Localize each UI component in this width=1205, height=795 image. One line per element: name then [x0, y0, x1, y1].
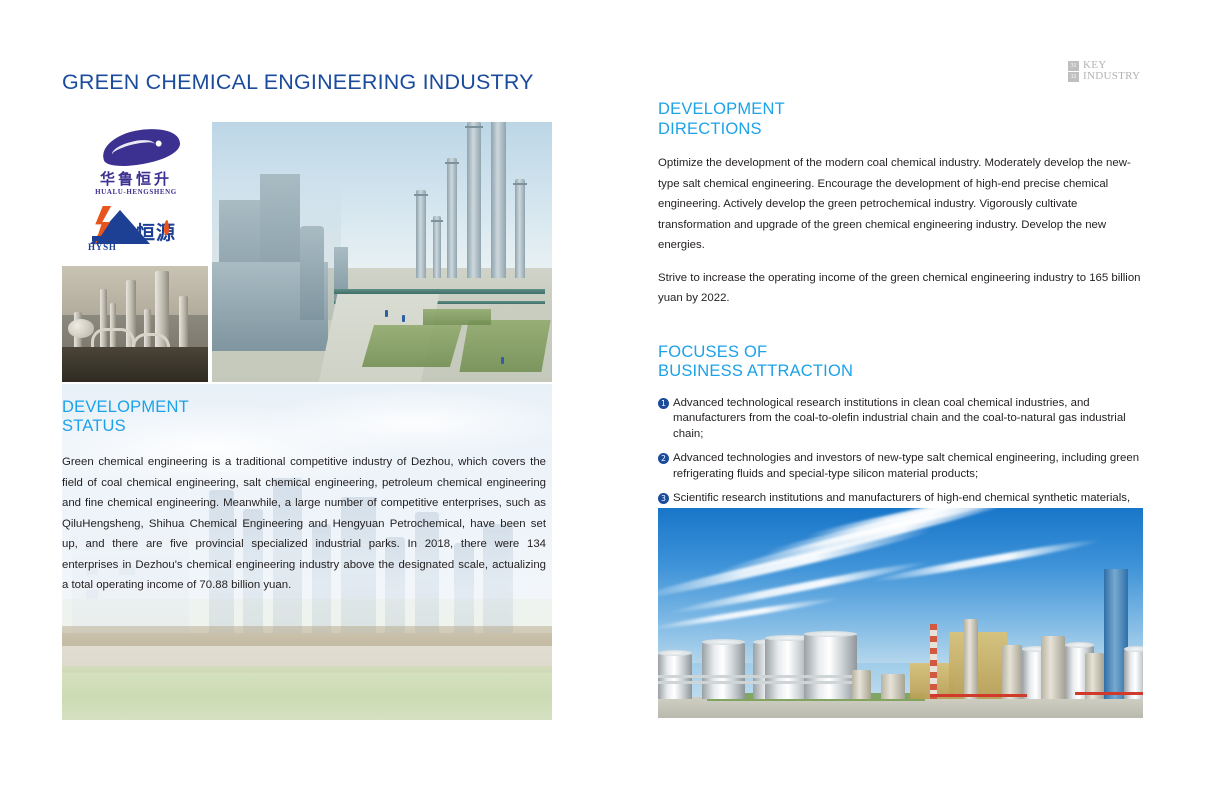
hengyuan-flame-icon — [164, 220, 169, 235]
background-grass — [62, 666, 552, 720]
right-column: DEVELOPMENT DIRECTIONS Optimize the deve… — [658, 100, 1143, 562]
hengyuan-bar-icon — [92, 236, 136, 241]
background-hedge — [62, 626, 552, 646]
hualu-hengsheng-logo: 华鲁恒升 HUALU-HENGSHENG — [80, 128, 192, 206]
development-status-heading: DEVELOPMENT STATUS — [62, 398, 189, 436]
left-media-band: 华鲁恒升 HUALU-HENGSHENG 恒源 HYSH — [62, 122, 552, 382]
development-directions-paragraph-2: Strive to increase the operating income … — [658, 268, 1143, 309]
hualu-swoosh-icon — [99, 123, 182, 171]
petrochemical-plant-photo — [212, 122, 552, 382]
development-status-body: Green chemical engineering is a traditio… — [62, 452, 546, 596]
bullet-number-icon: 2 — [658, 453, 669, 464]
development-directions-heading-line2: DIRECTIONS — [658, 120, 1143, 140]
development-directions-heading-line1: DEVELOPMENT — [658, 100, 1143, 120]
key-industry-line2: INDUSTRY — [1083, 71, 1140, 82]
list-item: 1 Advanced technological research instit… — [658, 396, 1143, 443]
focuses-heading: FOCUSES OF BUSINESS ATTRACTION — [658, 343, 1143, 382]
tank-farm-photo — [658, 508, 1143, 718]
refinery-detail-photo — [62, 266, 208, 382]
key-industry-words: KEY INDUSTRY — [1083, 60, 1140, 82]
left-column: 华鲁恒升 HUALU-HENGSHENG 恒源 HYSH — [62, 122, 552, 720]
page-title: GREEN CHEMICAL ENGINEERING INDUSTRY — [62, 70, 534, 95]
chip-number-top: 31 — [1068, 61, 1079, 71]
focuses-heading-line2: BUSINESS ATTRACTION — [658, 362, 1143, 382]
key-industry-mark: 31 32 KEY INDUSTRY — [1068, 60, 1140, 82]
development-status-heading-line2: STATUS — [62, 417, 189, 436]
hualu-chinese-name: 华鲁恒升 — [86, 168, 186, 189]
hualu-dot-icon — [155, 140, 162, 147]
development-directions-paragraph-1: Optimize the development of the modern c… — [658, 153, 1143, 256]
list-item-text: Advanced technological research institut… — [673, 397, 1126, 440]
bullet-number-icon: 3 — [658, 493, 669, 504]
company-logos-panel: 华鲁恒升 HUALU-HENGSHENG 恒源 HYSH — [62, 122, 208, 263]
key-industry-chips: 31 32 — [1068, 61, 1079, 82]
chip-number-bottom: 32 — [1068, 72, 1079, 82]
development-status-heading-line1: DEVELOPMENT — [62, 398, 189, 417]
list-item-text: Advanced technologies and investors of n… — [673, 452, 1139, 480]
hengyuan-chinese-name: 恒源 — [136, 218, 176, 245]
hualu-english-name: HUALU-HENGSHENG — [80, 188, 192, 196]
hengyuan-english-name: HYSH — [88, 242, 117, 252]
hengyuan-logo: 恒源 HYSH — [74, 206, 200, 258]
focuses-heading-line1: FOCUSES OF — [658, 343, 1143, 363]
list-item: 2 Advanced technologies and investors of… — [658, 451, 1143, 482]
page-canvas: 31 32 KEY INDUSTRY GREEN CHEMICAL ENGINE… — [0, 0, 1205, 795]
development-directions-heading: DEVELOPMENT DIRECTIONS — [658, 100, 1143, 139]
bullet-number-icon: 1 — [658, 398, 669, 409]
